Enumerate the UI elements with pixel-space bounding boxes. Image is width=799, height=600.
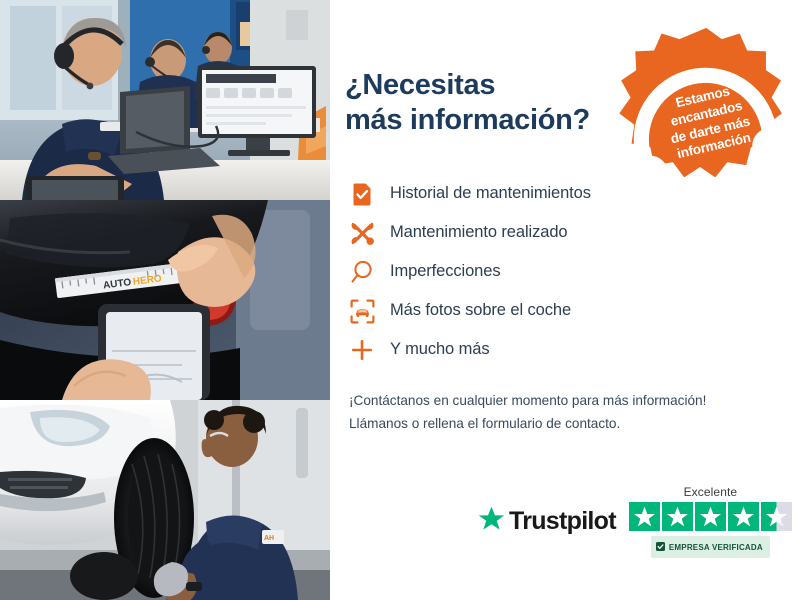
trustpilot-rating[interactable]: Trustpilot Excelente [478, 485, 792, 558]
autohero-info-banner: AUTO HERO [0, 0, 799, 600]
trustpilot-rating-label: Excelente [684, 485, 738, 499]
feature-label: Imperfecciones [390, 262, 500, 282]
contact-line-2: Llámanos o rellena el formulario de cont… [349, 412, 777, 436]
plus-icon [345, 333, 379, 367]
verified-business-label: EMPRESA VERIFICADA [669, 543, 763, 552]
checklist-document-icon [345, 177, 379, 211]
page-title: ¿Necesitas más información? [345, 68, 645, 139]
trustpilot-star-icon [478, 506, 505, 537]
contact-text: ¡Contáctanos en cualquier momento para m… [349, 389, 777, 436]
photo-column: AUTO HERO [0, 0, 330, 600]
promo-starburst-badge: Estamos encantados de darte más informac… [618, 22, 793, 197]
crossed-tools-icon [345, 216, 379, 250]
page-title-line2: más información? [345, 103, 645, 138]
page-title-line1: ¿Necesitas [345, 69, 495, 101]
trustpilot-wordmark: Trustpilot [509, 507, 616, 536]
trustpilot-star-5-half [761, 502, 792, 531]
car-viewfinder-icon [345, 294, 379, 328]
feature-label: Más fotos sobre el coche [390, 301, 571, 321]
trustpilot-stars [629, 502, 792, 531]
trustpilot-logo[interactable]: Trustpilot [478, 506, 616, 537]
feature-label: Y mucho más [390, 340, 489, 360]
content-panel: ¿Necesitas más información? Estamos enca… [330, 0, 799, 600]
feature-item-fotos: Más fotos sobre el coche [345, 292, 777, 331]
trustpilot-star-1 [629, 502, 660, 531]
magnifier-icon [345, 255, 379, 289]
call-center-agent-photo [0, 0, 330, 200]
trustpilot-star-3 [695, 502, 726, 531]
feature-item-mucho-mas: Y mucho más [345, 331, 777, 370]
feature-label: Mantenimiento realizado [390, 223, 567, 243]
feature-label: Historial de mantenimientos [390, 184, 591, 204]
trustpilot-star-2 [662, 502, 693, 531]
contact-line-1: ¡Contáctanos en cualquier momento para m… [349, 389, 777, 413]
verified-business-badge: EMPRESA VERIFICADA [651, 536, 770, 558]
mechanic-wheel-photo: AH [0, 400, 330, 600]
car-inspection-photo: AUTO HERO [0, 200, 330, 400]
svg-text:AH: AH [264, 535, 274, 542]
feature-item-imperfecciones: Imperfecciones [345, 253, 777, 292]
verified-check-icon [656, 538, 665, 556]
trustpilot-star-4 [728, 502, 759, 531]
trustpilot-score-block: Excelente [629, 485, 792, 558]
